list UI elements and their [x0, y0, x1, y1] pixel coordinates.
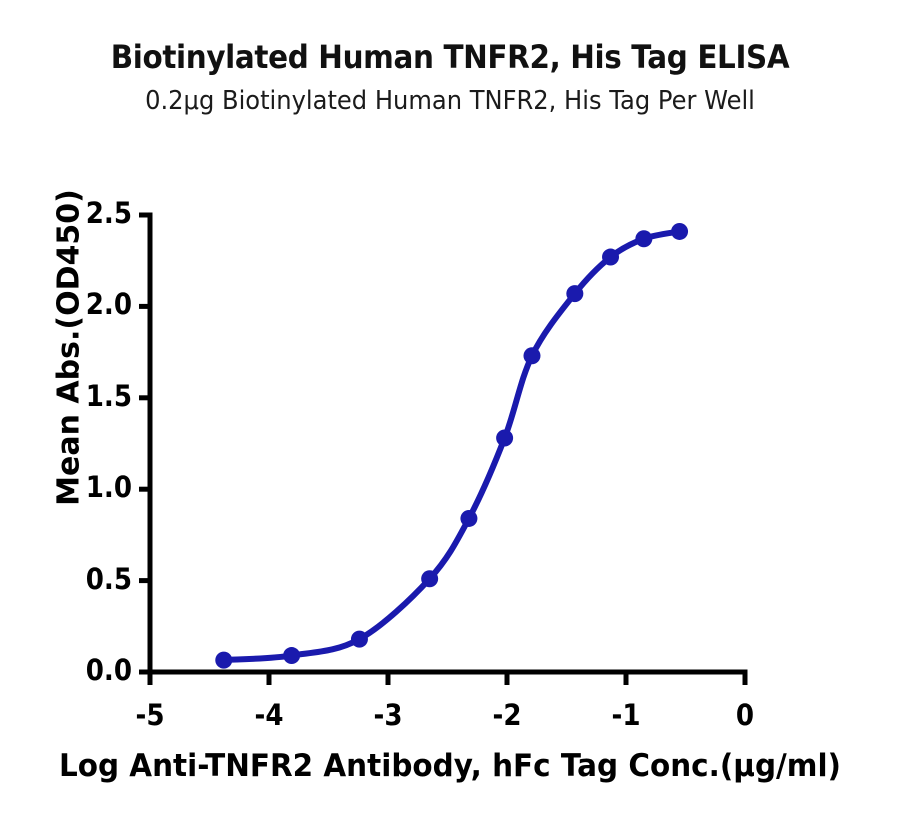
- y-tick-label: 0.0: [51, 653, 132, 687]
- data-point: [602, 249, 619, 266]
- y-tick-label: 1.0: [51, 470, 132, 504]
- x-tick-label: -1: [599, 698, 653, 732]
- x-tick-label: -2: [480, 698, 534, 732]
- series-line: [224, 231, 680, 660]
- data-point: [523, 347, 540, 364]
- chart-figure: Biotinylated Human TNFR2, His Tag ELISA …: [0, 0, 900, 826]
- x-tick-label: -3: [361, 698, 415, 732]
- data-point: [496, 430, 513, 447]
- data-point: [671, 223, 688, 240]
- data-point: [351, 631, 368, 648]
- y-axis-title: Mean Abs.(OD450): [52, 118, 87, 578]
- data-point: [460, 510, 477, 527]
- y-tick-label: 2.0: [51, 287, 132, 321]
- data-point: [283, 647, 300, 664]
- x-tick-label: -5: [123, 698, 177, 732]
- data-point: [215, 652, 232, 669]
- data-point: [635, 230, 652, 247]
- y-tick-label: 0.5: [51, 562, 132, 596]
- data-point: [421, 570, 438, 587]
- y-tick-label: 1.5: [51, 379, 132, 413]
- x-tick-label: 0: [718, 698, 772, 732]
- data-point: [566, 285, 583, 302]
- x-tick-label: -4: [242, 698, 296, 732]
- x-axis-title: Log Anti-TNFR2 Antibody, hFc Tag Conc.(μ…: [23, 748, 878, 784]
- y-tick-label: 2.5: [51, 196, 132, 230]
